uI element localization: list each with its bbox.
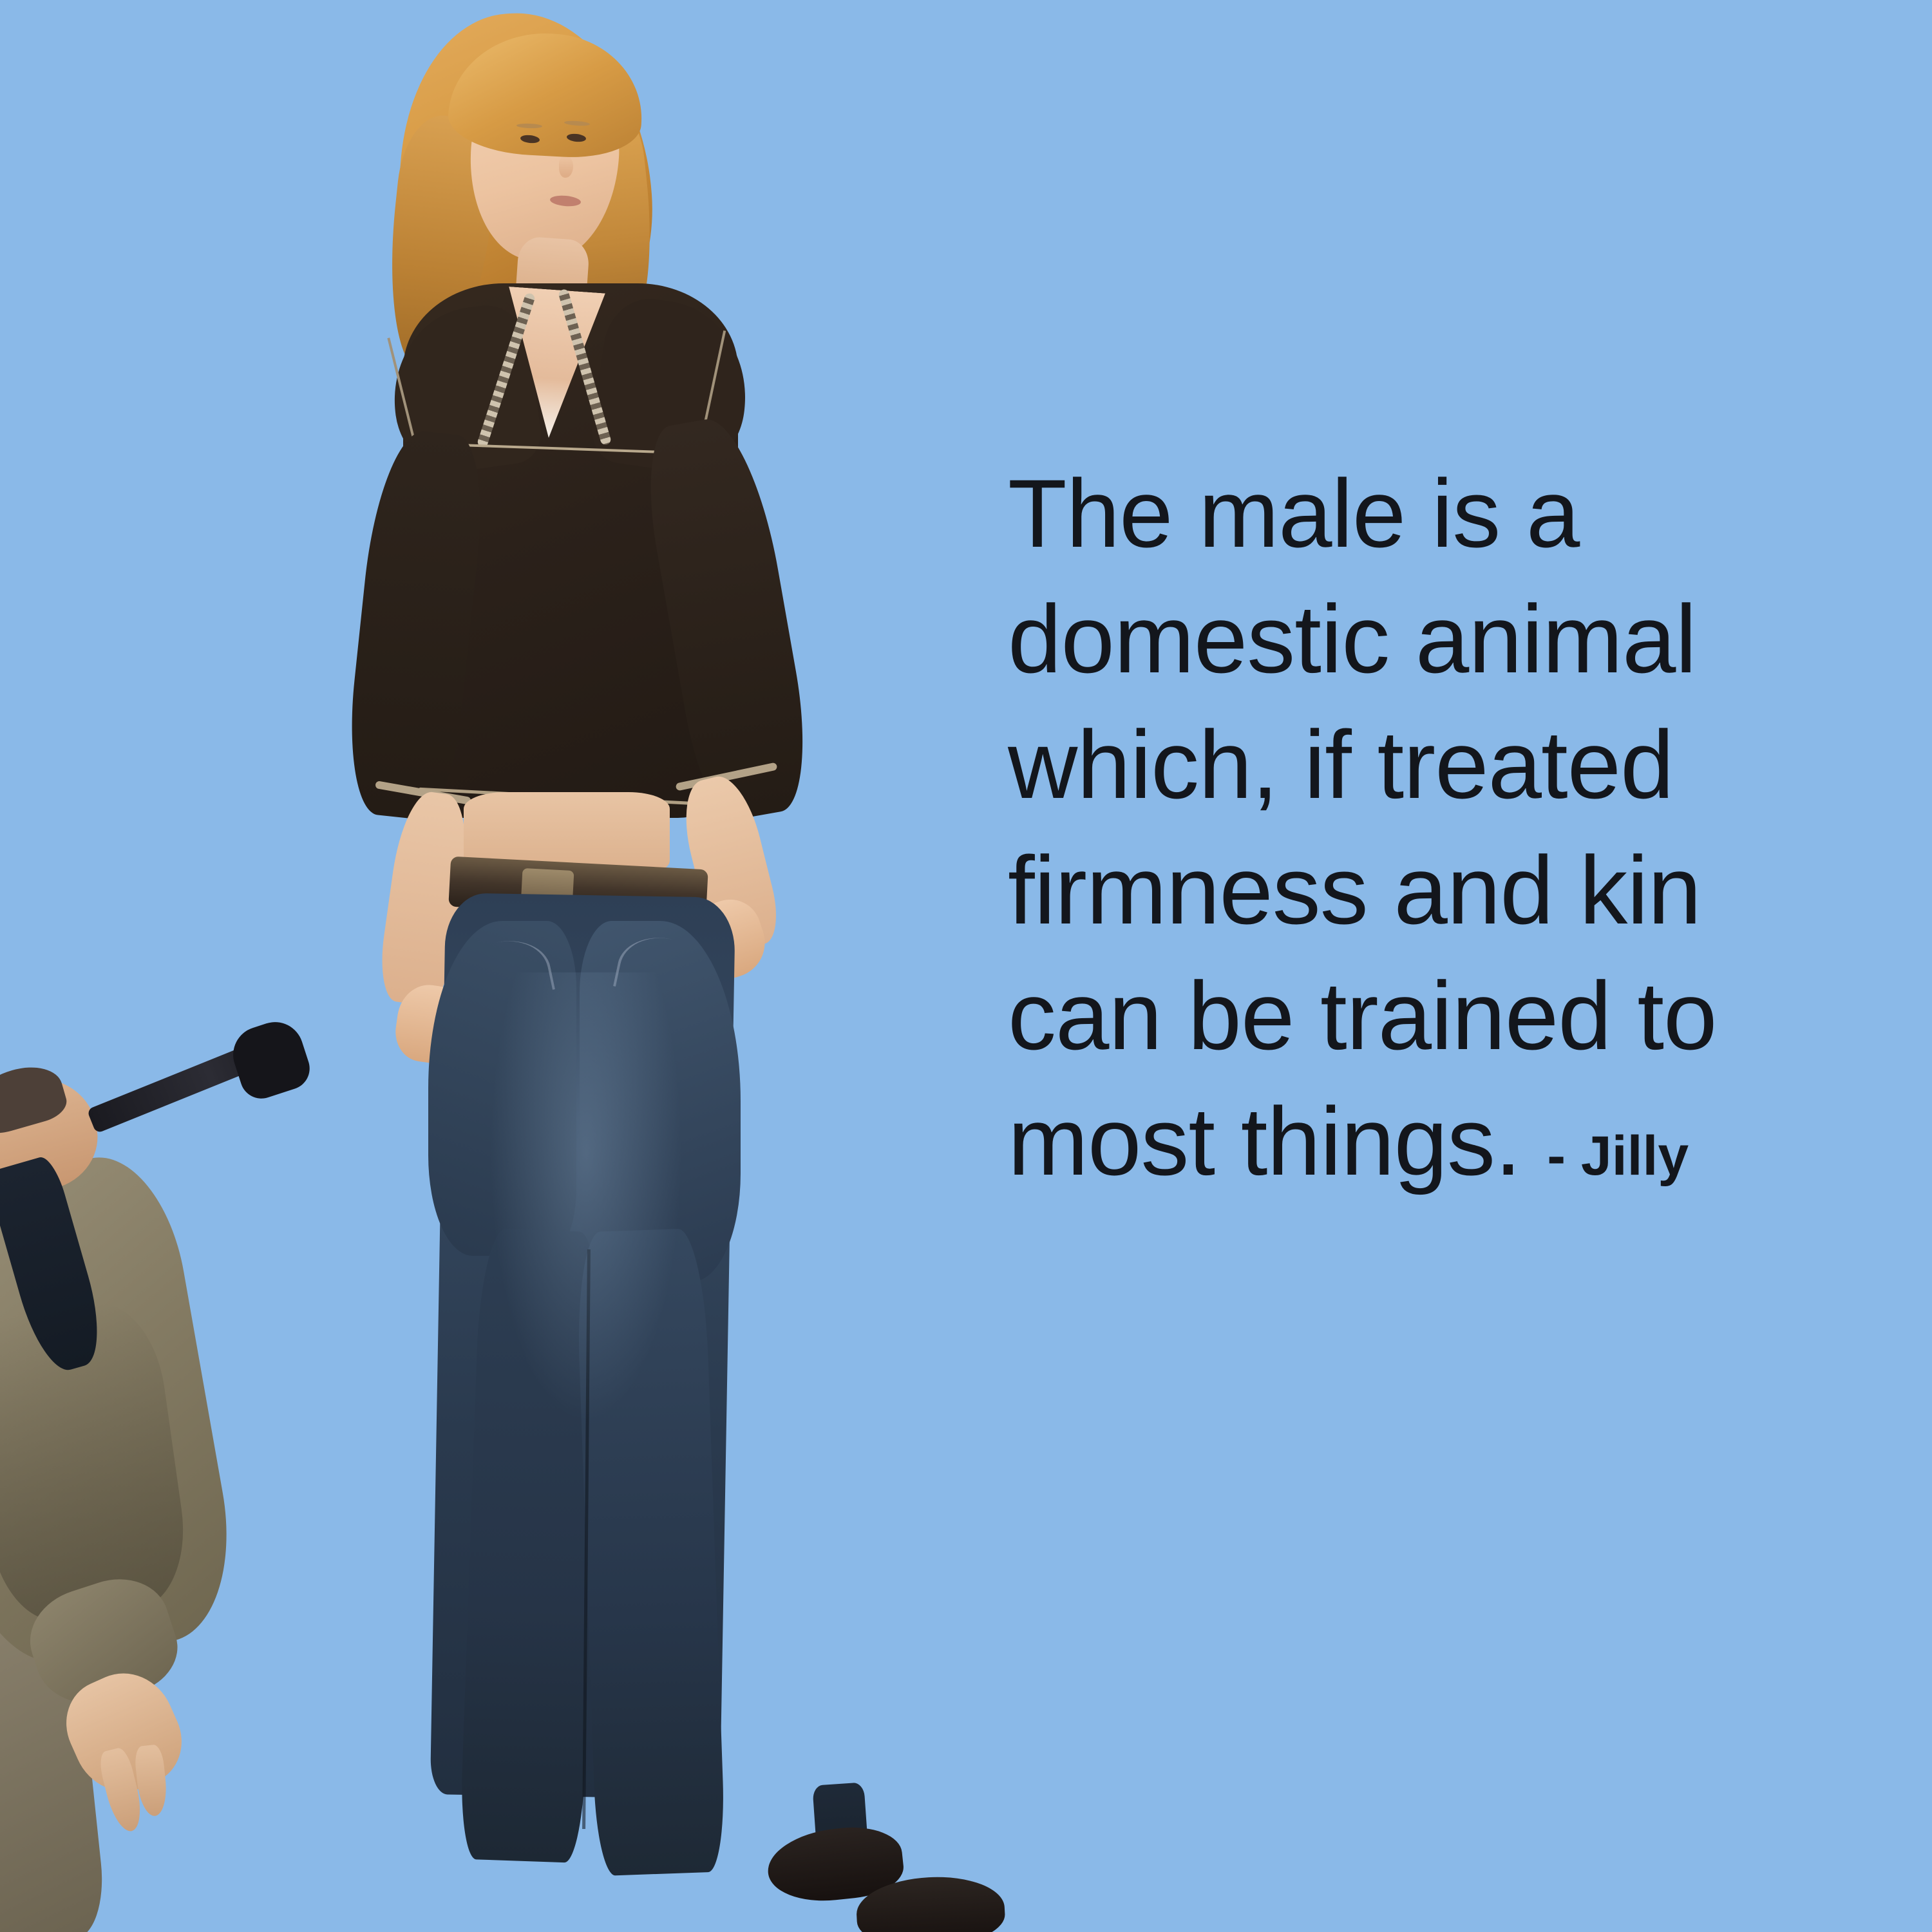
quote-line-6: most things. - Jilly [1008,1079,1932,1204]
quote-text: The male is a domestic animal which, if … [1008,451,1932,1204]
meme-canvas: The male is a domestic animal which, if … [0,0,1932,1932]
quote-line-6-text: most things. [1008,1087,1521,1195]
quote-line-1: The male is a [1008,451,1932,576]
woman-figure [277,6,1011,1932]
quote-line-2: domestic animal [1008,576,1932,702]
quote-line-4: firmness and kin [1008,828,1932,953]
quote-line-3: which, if treated [1008,702,1932,828]
quote-attribution: - Jilly [1547,1125,1689,1187]
woman-jeans-fade [489,972,683,1423]
quote-line-5: can be trained to [1008,953,1932,1079]
